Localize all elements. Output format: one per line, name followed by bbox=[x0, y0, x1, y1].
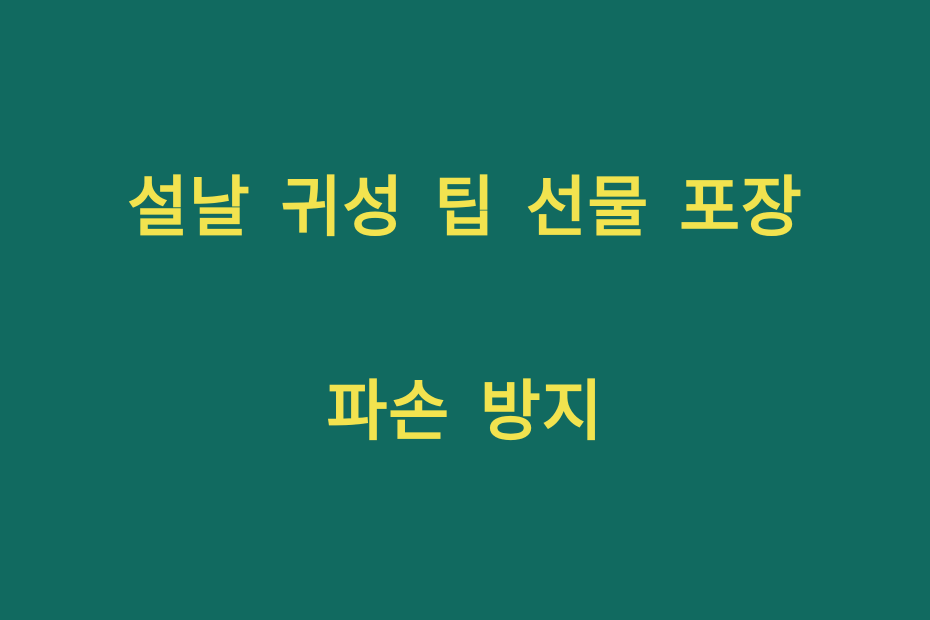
headline-text: 설날 귀성 팁 선물 포장 파손 방지 bbox=[65, 54, 865, 565]
headline-line-1: 설날 귀성 팁 선물 포장 bbox=[65, 157, 865, 259]
title-card-banner: 설날 귀성 팁 선물 포장 파손 방지 bbox=[0, 0, 930, 620]
headline-line-2: 파손 방지 bbox=[65, 361, 865, 463]
